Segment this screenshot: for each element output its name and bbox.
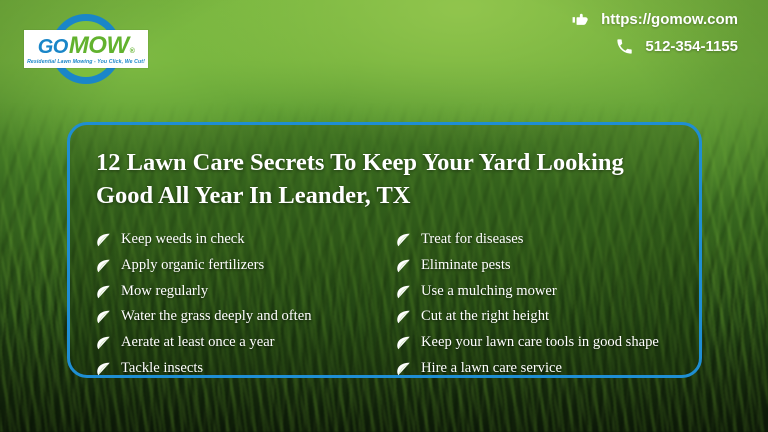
list-item-label: Tackle insects [121, 358, 203, 379]
list-item-label: Aerate at least once a year [121, 332, 275, 353]
logo-band: GO MOW ® Residential Lawn Mowing - You C… [24, 30, 148, 68]
list-item: Use a mulching mower [396, 281, 675, 302]
website-link[interactable]: https://gomow.com [571, 10, 738, 29]
phone-icon [615, 37, 634, 56]
list-item-label: Eliminate pests [421, 255, 511, 276]
list-item: Mow regularly [96, 281, 396, 302]
list-item-label: Water the grass deeply and often [121, 306, 312, 327]
leaf-icon [96, 232, 111, 248]
leaf-icon [396, 309, 411, 325]
list-item-label: Keep weeds in check [121, 229, 245, 250]
logo-word-mow: MOW [69, 34, 129, 58]
page-title: 12 Lawn Care Secrets To Keep Your Yard L… [94, 147, 675, 212]
phone-link[interactable]: 512-354-1155 [615, 37, 738, 56]
logo-wordmark: GO MOW ® [38, 34, 135, 58]
list-item-label: Mow regularly [121, 281, 208, 302]
list-item: Eliminate pests [396, 255, 675, 276]
leaf-icon [96, 361, 111, 377]
website-url-text: https://gomow.com [601, 11, 738, 28]
list-item: Keep weeds in check [96, 229, 396, 250]
list-item-label: Cut at the right height [421, 306, 549, 327]
leaf-icon [96, 335, 111, 351]
list-item: Water the grass deeply and often [96, 306, 396, 327]
list-item: Treat for diseases [396, 229, 675, 250]
contact-info: https://gomow.com 512-354-1155 [571, 10, 738, 56]
phone-number-text: 512-354-1155 [645, 38, 738, 55]
list-item: Keep your lawn care tools in good shape [396, 332, 675, 353]
list-item: Tackle insects [96, 358, 396, 379]
content-card: 12 Lawn Care Secrets To Keep Your Yard L… [67, 122, 702, 378]
tips-columns: Keep weeds in check Apply organic fertil… [94, 229, 675, 378]
list-item-label: Treat for diseases [421, 229, 523, 250]
leaf-icon [96, 309, 111, 325]
leaf-icon [396, 258, 411, 274]
list-item: Apply organic fertilizers [96, 255, 396, 276]
list-item-label: Use a mulching mower [421, 281, 557, 302]
leaf-icon [396, 335, 411, 351]
pointing-hand-icon [571, 10, 590, 29]
list-item-label: Hire a lawn care service [421, 358, 562, 379]
list-item-label: Keep your lawn care tools in good shape [421, 332, 659, 353]
leaf-icon [396, 361, 411, 377]
tips-column-left: Keep weeds in check Apply organic fertil… [96, 229, 396, 378]
list-item: Cut at the right height [396, 306, 675, 327]
gomow-logo[interactable]: GO MOW ® Residential Lawn Mowing - You C… [22, 14, 150, 84]
registered-trademark-icon: ® [130, 48, 135, 55]
leaf-icon [96, 284, 111, 300]
logo-tagline: Residential Lawn Mowing - You Click, We … [27, 59, 145, 65]
list-item: Hire a lawn care service [396, 358, 675, 379]
leaf-icon [396, 284, 411, 300]
leaf-icon [96, 258, 111, 274]
tips-column-right: Treat for diseases Eliminate pests Use a… [396, 229, 675, 378]
leaf-icon [396, 232, 411, 248]
list-item: Aerate at least once a year [96, 332, 396, 353]
logo-word-go: GO [38, 37, 68, 57]
list-item-label: Apply organic fertilizers [121, 255, 264, 276]
